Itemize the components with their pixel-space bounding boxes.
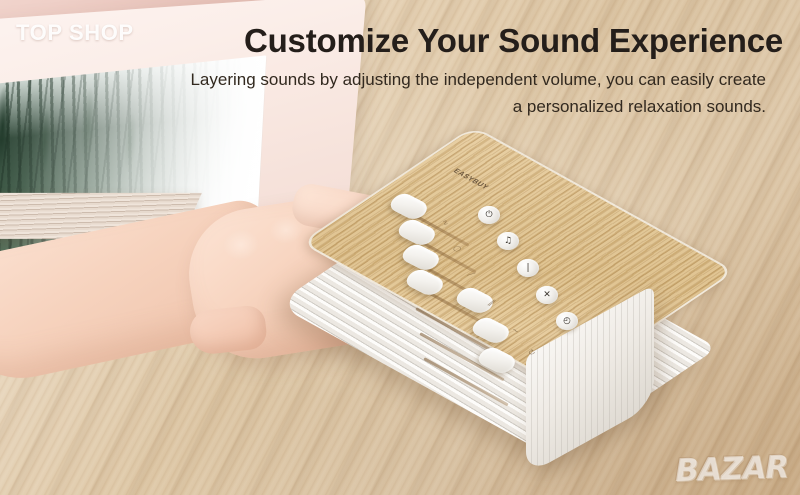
page-subtitle: Layering sounds by adjusting the indepen… xyxy=(186,66,766,120)
page-title: Customize Your Sound Experience xyxy=(183,22,783,60)
brightness-button[interactable]: ❘ xyxy=(517,259,539,277)
sound-mode-button[interactable]: ♫ xyxy=(497,232,519,250)
bazar-watermark: BAZAR xyxy=(674,449,788,489)
star-button[interactable]: ✕ xyxy=(536,286,558,304)
timer-button[interactable]: ◴ xyxy=(556,312,578,330)
power-button[interactable]: ⏻ xyxy=(478,206,500,224)
sound-machine-device: EASYBUY ⏻ ♫ ❘ ✕ ◴ ∿ ○ ⁄ ‖ ∼ ↻ xyxy=(330,160,690,450)
product-banner: EASYBUY ⏻ ♫ ❘ ✕ ◴ ∿ ○ ⁄ ‖ ∼ ↻ Customize … xyxy=(0,0,800,495)
thumb xyxy=(188,304,268,356)
top-shop-watermark: TOP SHOP xyxy=(16,20,134,46)
